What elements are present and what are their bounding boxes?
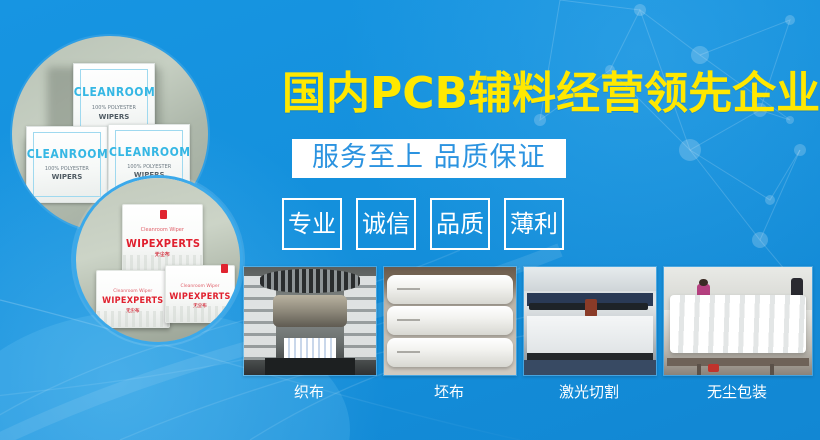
process-item-cleanroom-packing: 无尘包装 [663, 266, 811, 400]
keyword-box-4: 薄利 [504, 198, 564, 250]
process-photo-strip: 织布 坯布 激光切割 [243, 266, 811, 400]
process-item-greige-cloth: 坯布 [383, 266, 515, 400]
package-brand: WIPEXPERTS [126, 237, 198, 250]
banner-headline: 国内PCB辅料经营领先企业 [282, 72, 820, 116]
process-caption: 无尘包装 [663, 385, 811, 400]
keyword-box-1: 专业 [282, 198, 342, 250]
keyword-row: 专业 诚信 品质 薄利 [282, 198, 564, 250]
package-title: CLEANROOM [27, 147, 107, 161]
slogan-box: 服务至上 品质保证 [292, 139, 566, 178]
wipexperts-package: Cleanroom Wiper WIPEXPERTS 无尘布 [96, 270, 170, 328]
package-sub: Cleanroom Wiper [97, 289, 169, 294]
slogan-text: 服务至上 品质保证 [312, 142, 546, 173]
cleanroom-packing-photo [663, 266, 813, 376]
package-sub: 100% POLYESTER [27, 166, 107, 172]
fabric-rolls-photo [383, 266, 517, 376]
process-caption: 织布 [243, 385, 375, 400]
package-sub: Cleanroom Wiper [166, 284, 235, 289]
package-brand: WIPEXPERTS [100, 296, 166, 306]
package-brand: WIPERS [74, 113, 154, 121]
package-brand: WIPEXPERTS [168, 292, 231, 302]
package-sub: 100% POLYESTER [74, 105, 154, 111]
keyword-box-2: 诚信 [356, 198, 416, 250]
process-caption: 激光切割 [523, 385, 655, 400]
knitting-machine-photo [243, 266, 377, 376]
product-photo-wipexperts: Cleanroom Wiper WIPEXPERTS 无尘布 Cleanroom… [76, 178, 240, 342]
package-sub: Cleanroom Wiper [123, 227, 202, 233]
keyword-box-3: 品质 [430, 198, 490, 250]
package-title: CLEANROOM [74, 85, 154, 99]
package-title: CLEANROOM [109, 145, 189, 159]
process-item-weaving: 织布 [243, 266, 375, 400]
process-item-laser-cutting: 激光切割 [523, 266, 655, 400]
process-caption: 坯布 [383, 385, 515, 400]
wipexperts-package: Cleanroom Wiper WIPEXPERTS 无尘布 [165, 265, 236, 323]
laser-cutting-machine-photo [523, 266, 657, 376]
package-sub: 100% POLYESTER [109, 164, 189, 170]
promo-banner: CLEANROOM 100% POLYESTER WIPERS CLEANROO… [0, 0, 820, 440]
